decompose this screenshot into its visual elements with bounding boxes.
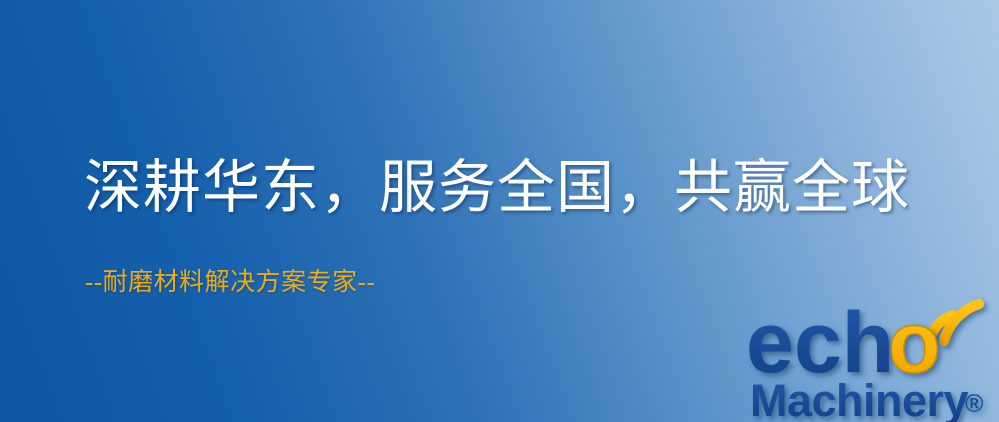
- company-logo[interactable]: ech o Machinery ®: [748, 292, 999, 422]
- promotional-banner: 深耕华东，服务全国，共赢全球 --耐磨材料解决方案专家--: [0, 0, 999, 422]
- logo-registered-mark: ®: [965, 390, 984, 418]
- logo-tagline: Machinery: [750, 375, 969, 422]
- banner-headline: 深耕华东，服务全国，共赢全球: [84, 155, 910, 221]
- banner-subtitle: --耐磨材料解决方案专家--: [85, 268, 375, 298]
